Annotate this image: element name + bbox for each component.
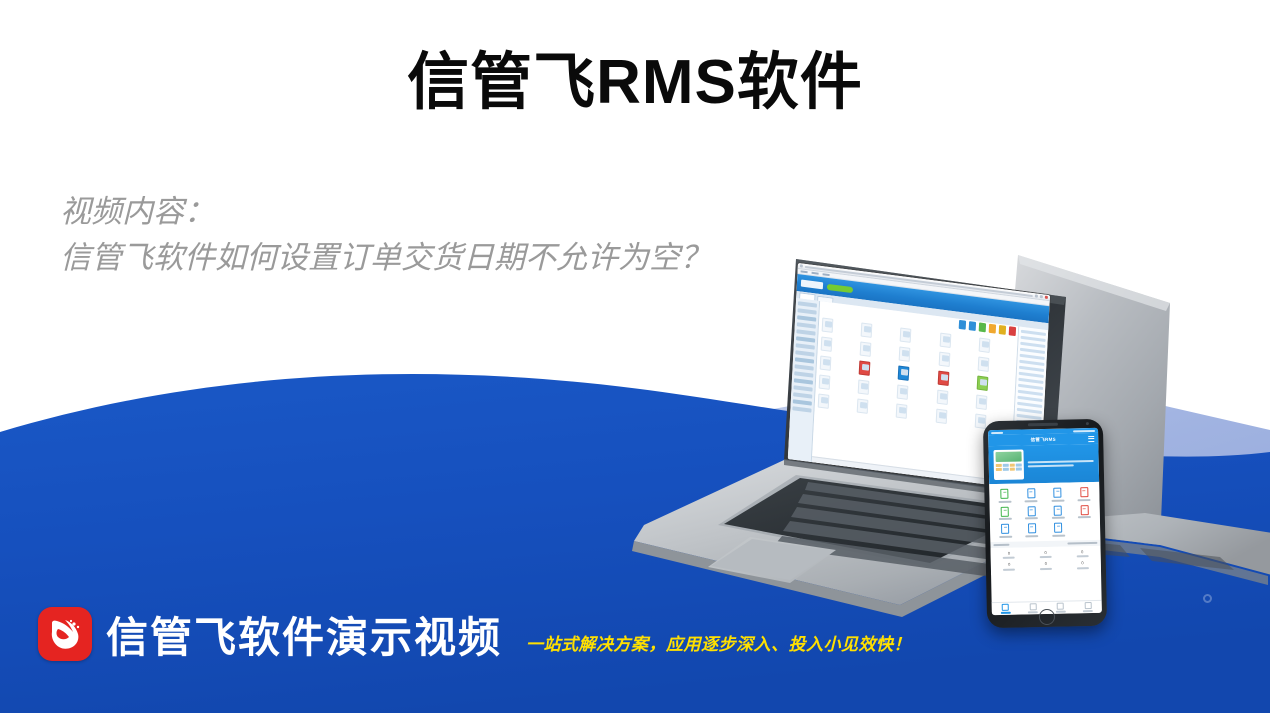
minimize-icon[interactable] [1035,294,1038,297]
stat-item: 0 [1027,562,1064,570]
module-icon[interactable] [897,384,909,399]
mobile-module[interactable] [992,524,1019,538]
toolbar-icon-4[interactable] [989,324,996,334]
mobile-module[interactable] [1071,487,1098,501]
mobile-app-title: 信管飞RMS [1031,436,1056,443]
mobile-module[interactable] [991,489,1018,503]
module-icon[interactable] [938,352,950,367]
mobile-module[interactable] [1071,504,1098,518]
promo-card-thumb [993,449,1024,480]
mobile-module[interactable] [1018,506,1045,520]
module-icon[interactable] [977,357,989,372]
module-icon[interactable] [900,327,912,342]
brand-tagline: 一站式解决方案，应用逐步深入、投入小见效快！ [526,630,911,655]
module-icon[interactable] [821,336,833,351]
mobile-promo-banner[interactable] [988,444,1099,484]
brand-bar: 信管飞软件演示视频 一站式解决方案，应用逐步深入、投入小见效快！ [38,607,911,661]
module-icon[interactable] [860,341,872,356]
module-icon[interactable] [857,398,869,413]
toolbar-icon-3[interactable] [979,322,986,332]
phone-speaker [1028,423,1058,426]
brand-name: 信管飞软件演示视频 [106,617,502,659]
toolbar-icon-5[interactable] [999,325,1006,335]
stat-item: 0 [1064,561,1101,569]
stat-item: 0 [991,562,1028,570]
mobile-module[interactable] [1044,487,1071,501]
module-icon-grid[interactable] [818,317,1015,432]
menu-help[interactable] [823,273,830,276]
phone-screen: 信管飞RMS [988,428,1102,615]
module-icon[interactable] [936,390,948,405]
toolbar-icon-1[interactable] [959,320,966,330]
module-icon[interactable] [861,322,873,337]
nav-home[interactable] [992,603,1020,614]
phone-home-button[interactable] [1039,609,1055,625]
maximize-icon[interactable] [1040,295,1043,298]
stat-item: 0 [1064,549,1101,557]
phoenix-leaf-logo-icon [38,607,92,661]
mobile-stats-grid: 0 0 0 0 0 0 [990,545,1101,574]
module-icon[interactable] [937,371,949,386]
slide-stage: 信管飞RMS软件 视频内容： 信管飞软件如何设置订单交货日期不允许为空？ [0,0,1270,713]
mobile-module[interactable] [1018,488,1045,502]
mobile-module-grid[interactable] [989,482,1100,542]
app-badge [827,283,853,292]
page-title: 信管飞RMS软件 [0,50,1270,115]
stat-item: 0 [1027,550,1064,558]
close-icon[interactable] [1045,296,1048,299]
module-icon[interactable] [899,346,911,361]
device-composition: 信管飞RMS [600,245,1270,645]
module-icon[interactable] [974,414,986,429]
mobile-module[interactable] [1045,505,1072,519]
nav-profile[interactable] [1074,602,1102,613]
phone-camera [1086,422,1089,425]
mobile-module[interactable] [1045,522,1072,536]
menu-file[interactable] [801,270,808,273]
promo-card-text [1028,460,1094,467]
toolbar-icon-2[interactable] [969,321,976,331]
mobile-app-header: 信管飞RMS [988,433,1098,446]
module-icon[interactable] [818,393,830,408]
module-icon[interactable] [819,374,831,389]
module-icon[interactable] [978,338,990,353]
app-logo [801,280,823,290]
hamburger-menu-icon[interactable] [1088,436,1094,443]
module-icon[interactable] [820,355,832,370]
module-icon[interactable] [975,395,987,410]
stat-item: 0 [991,551,1028,559]
module-icon[interactable] [822,317,834,332]
deco-dot-2 [1203,594,1212,603]
module-icon[interactable] [935,409,947,424]
module-icon[interactable] [898,365,910,380]
menu-edit[interactable] [812,272,819,275]
mobile-module[interactable] [1018,523,1045,537]
mobile-module[interactable] [992,506,1019,520]
app-icon [800,264,803,267]
video-content-label: 视频内容： [60,190,740,234]
module-icon[interactable] [858,379,870,394]
toolbar-icon-6[interactable] [1009,326,1016,336]
module-icon[interactable] [976,376,988,391]
module-icon[interactable] [896,403,908,418]
module-icon[interactable] [939,333,951,348]
smartphone: 信管飞RMS [983,419,1107,628]
module-icon[interactable] [859,360,871,375]
